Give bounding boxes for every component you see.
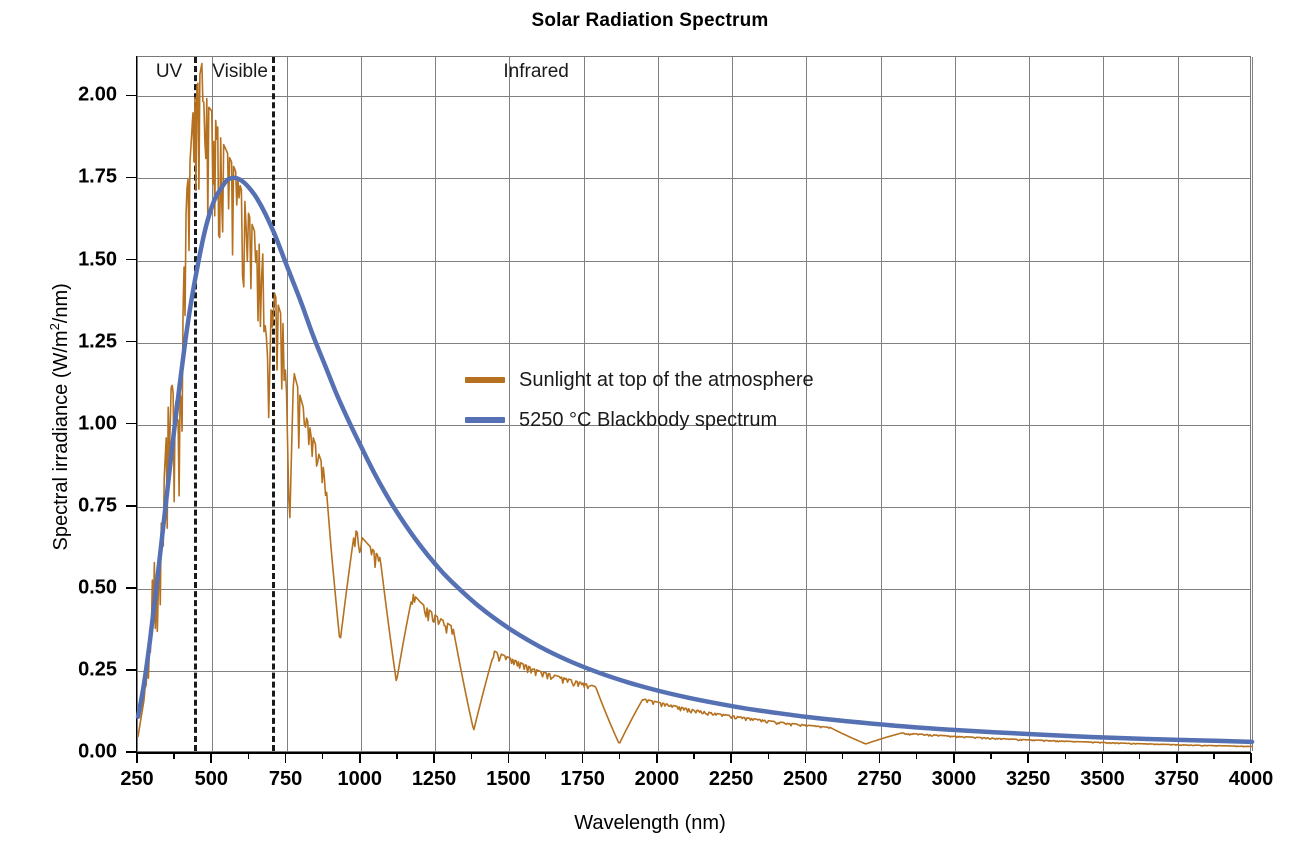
x-tick-minor	[248, 753, 249, 759]
y-tick-mark	[126, 259, 136, 261]
x-tick-mark	[1102, 753, 1104, 763]
legend-label: 5250 °C Blackbody spectrum	[519, 409, 777, 432]
x-tick-label: 1000	[338, 768, 383, 791]
x-tick-minor	[842, 753, 843, 759]
y-tick-mark	[126, 341, 136, 343]
x-tick-minor	[1139, 753, 1140, 759]
legend-label: Sunlight at top of the atmosphere	[519, 369, 814, 392]
x-tick-mark	[656, 753, 658, 763]
legend-entry[interactable]: 5250 °C Blackbody spectrum	[465, 400, 814, 440]
x-tick-label: 4000	[1229, 768, 1274, 791]
x-tick-minor	[916, 753, 917, 759]
y-tick-mark	[126, 505, 136, 507]
x-tick-minor	[173, 753, 174, 759]
x-tick-minor	[693, 753, 694, 759]
x-tick-label: 3250	[1006, 768, 1051, 791]
y-tick-mark	[126, 95, 136, 97]
y-tick-mark	[126, 423, 136, 425]
x-tick-minor	[1213, 753, 1214, 759]
x-tick-mark	[508, 753, 510, 763]
y-axis-label-superscript: 2	[47, 323, 62, 330]
x-tick-label: 3500	[1080, 768, 1125, 791]
x-tick-label: 3000	[932, 768, 977, 791]
x-tick-minor	[619, 753, 620, 759]
x-tick-mark	[359, 753, 361, 763]
x-tick-minor	[471, 753, 472, 759]
chart-figure: Solar Radiation Spectrum UVVisibleInfrar…	[0, 0, 1300, 850]
x-tick-label: 1500	[486, 768, 531, 791]
x-tick-label: 1750	[560, 768, 605, 791]
x-tick-label: 500	[195, 768, 228, 791]
legend-color-swatch	[465, 417, 505, 423]
x-tick-mark	[136, 753, 138, 763]
x-tick-mark	[879, 753, 881, 763]
x-tick-label: 250	[120, 768, 153, 791]
gridline-vertical	[1252, 57, 1253, 751]
x-tick-minor	[768, 753, 769, 759]
y-axis-label: Spectral irradiance (W/m2/nm)	[47, 157, 73, 677]
x-tick-label: 750	[269, 768, 302, 791]
x-tick-mark	[805, 753, 807, 763]
x-tick-minor	[990, 753, 991, 759]
x-tick-mark	[1027, 753, 1029, 763]
x-tick-label: 2000	[635, 768, 680, 791]
x-tick-minor	[1065, 753, 1066, 759]
x-tick-label: 2250	[709, 768, 754, 791]
x-tick-mark	[285, 753, 287, 763]
x-tick-mark	[433, 753, 435, 763]
legend-entry[interactable]: Sunlight at top of the atmosphere	[465, 360, 814, 400]
chart-legend: Sunlight at top of the atmosphere5250 °C…	[465, 360, 814, 440]
y-tick-mark	[126, 587, 136, 589]
y-axis-label-tail: /nm)	[50, 283, 72, 323]
x-tick-minor	[322, 753, 323, 759]
y-axis-label-text: Spectral irradiance (W/m	[50, 330, 72, 550]
x-axis-label: Wavelength (nm)	[0, 812, 1300, 835]
x-tick-label: 3750	[1154, 768, 1199, 791]
y-tick-mark	[126, 669, 136, 671]
y-tick-label: 0.00	[45, 741, 117, 764]
legend-color-swatch	[465, 377, 505, 383]
x-tick-mark	[582, 753, 584, 763]
chart-title: Solar Radiation Spectrum	[0, 10, 1300, 32]
x-tick-mark	[730, 753, 732, 763]
x-tick-mark	[953, 753, 955, 763]
x-tick-label: 2500	[783, 768, 828, 791]
x-tick-minor	[545, 753, 546, 759]
y-tick-label: 2.00	[45, 84, 117, 107]
x-tick-mark	[210, 753, 212, 763]
x-tick-label: 1250	[412, 768, 457, 791]
series-line-blackbody	[138, 178, 1252, 742]
x-tick-minor	[396, 753, 397, 759]
x-tick-label: 2750	[857, 768, 902, 791]
x-tick-mark	[1176, 753, 1178, 763]
y-tick-mark	[126, 177, 136, 179]
y-tick-mark	[126, 751, 136, 753]
x-tick-mark	[1250, 753, 1252, 763]
